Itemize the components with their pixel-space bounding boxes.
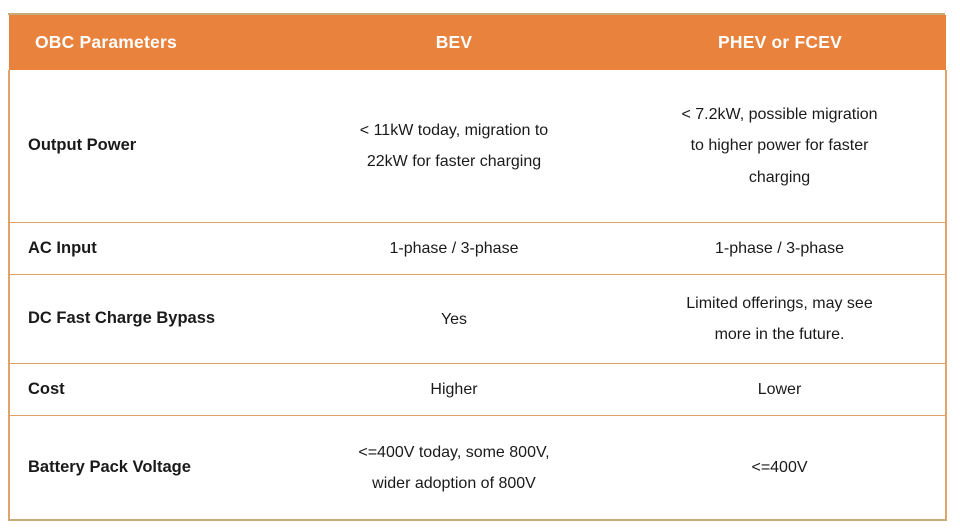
table-row: Cost Higher Lower xyxy=(9,364,946,416)
table-header-row: OBC Parameters BEV PHEV or FCEV xyxy=(9,15,946,70)
cell-line: < 7.2kW, possible migration xyxy=(628,99,931,130)
parameter-label: Cost xyxy=(28,380,65,398)
cell-line: charging xyxy=(628,162,931,193)
cell-line: to higher power for faster xyxy=(628,130,931,161)
column-header-obc-parameters: OBC Parameters xyxy=(9,15,294,70)
parameter-label: DC Fast Charge Bypass xyxy=(28,309,215,327)
table-canvas: OBC Parameters BEV PHEV or FCEV Output P… xyxy=(0,0,960,532)
cell-line: 22kW for faster charging xyxy=(308,146,600,177)
table-row: Output Power < 11kW today, migration to … xyxy=(9,70,946,223)
cell-bev-ac-input: 1-phase / 3-phase xyxy=(294,223,614,275)
table-header: OBC Parameters BEV PHEV or FCEV xyxy=(9,15,946,70)
cell-phev-battery-pack-voltage: <=400V xyxy=(614,416,946,521)
cell-parameter-battery-pack-voltage: Battery Pack Voltage xyxy=(9,416,294,521)
table-row: DC Fast Charge Bypass Yes Limited offeri… xyxy=(9,275,946,364)
cell-phev-output-power: < 7.2kW, possible migration to higher po… xyxy=(614,70,946,223)
cell-line: wider adoption of 800V xyxy=(308,468,600,499)
cell-line: Lower xyxy=(628,374,931,405)
cell-parameter-cost: Cost xyxy=(9,364,294,416)
parameter-label: Battery Pack Voltage xyxy=(28,458,191,476)
cell-bev-cost: Higher xyxy=(294,364,614,416)
cell-line: 1-phase / 3-phase xyxy=(308,233,600,264)
cell-parameter-dc-fast-charge-bypass: DC Fast Charge Bypass xyxy=(9,275,294,364)
cell-phev-dc-fast-charge-bypass: Limited offerings, may see more in the f… xyxy=(614,275,946,364)
cell-line: Higher xyxy=(308,374,600,405)
table-row: AC Input 1-phase / 3-phase 1-phase / 3-p… xyxy=(9,223,946,275)
table-body: Output Power < 11kW today, migration to … xyxy=(9,70,946,520)
cell-bev-battery-pack-voltage: <=400V today, some 800V, wider adoption … xyxy=(294,416,614,521)
cell-bev-dc-fast-charge-bypass: Yes xyxy=(294,275,614,364)
table-row: Battery Pack Voltage <=400V today, some … xyxy=(9,416,946,521)
cell-line: more in the future. xyxy=(628,319,931,350)
obc-comparison-table: OBC Parameters BEV PHEV or FCEV Output P… xyxy=(8,15,947,521)
parameter-label: Output Power xyxy=(28,136,136,154)
cell-line: Yes xyxy=(308,304,600,335)
cell-phev-cost: Lower xyxy=(614,364,946,416)
cell-line: Limited offerings, may see xyxy=(628,288,931,319)
cell-line: <=400V today, some 800V, xyxy=(308,437,600,468)
cell-line: 1-phase / 3-phase xyxy=(628,233,931,264)
cell-phev-ac-input: 1-phase / 3-phase xyxy=(614,223,946,275)
cell-line: < 11kW today, migration to xyxy=(308,115,600,146)
cell-bev-output-power: < 11kW today, migration to 22kW for fast… xyxy=(294,70,614,223)
cell-parameter-output-power: Output Power xyxy=(9,70,294,223)
cell-line: <=400V xyxy=(628,452,931,483)
parameter-label: AC Input xyxy=(28,239,97,257)
column-header-bev: BEV xyxy=(294,15,614,70)
column-header-phev-or-fcev: PHEV or FCEV xyxy=(614,15,946,70)
cell-parameter-ac-input: AC Input xyxy=(9,223,294,275)
